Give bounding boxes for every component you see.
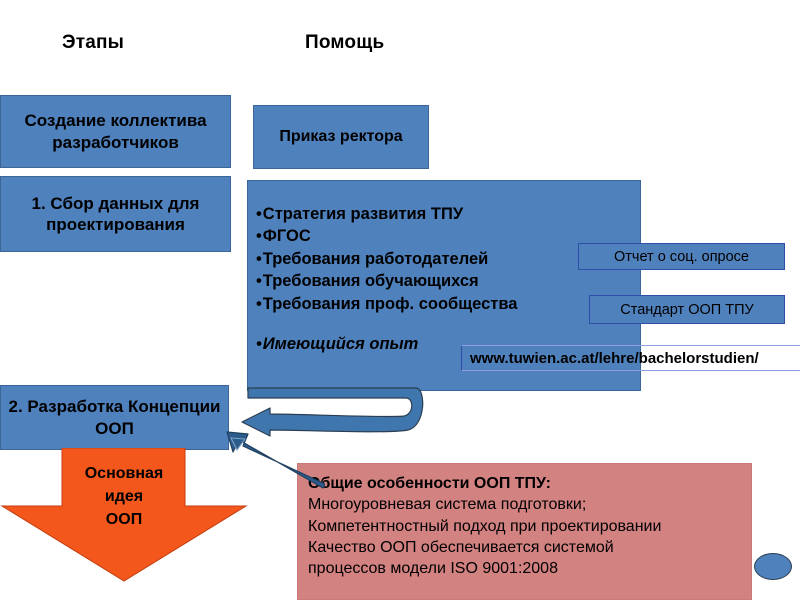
bullet-item: Требования обучающихся	[256, 270, 632, 292]
bullet-item: Требования проф. сообщества	[256, 293, 632, 315]
connector-arrow-icon	[215, 430, 325, 490]
box-develop-concept[interactable]: 2. Разработка Концепции ООП	[0, 385, 229, 450]
panel-line-1: Многоуровневая система подготовки;	[308, 494, 741, 515]
orange-down-arrow-icon	[0, 448, 248, 583]
panel-title: Общие особенности ООП ТПУ:	[308, 473, 741, 494]
panel-line-4: процессов модели ISO 9001:2008	[308, 558, 741, 579]
tag-reference-url[interactable]: www.tuwien.ac.at/lehre/bachelorstudien/	[461, 345, 800, 371]
column-header-stages: Этапы	[62, 32, 124, 54]
bullet-spacer	[256, 315, 632, 333]
panel-line-2: Компетентностный подход при проектирован…	[308, 516, 741, 537]
bullet-item: ФГОС	[256, 225, 632, 247]
box-collect-data[interactable]: 1. Сбор данных для проектирования	[0, 176, 231, 252]
column-header-help: Помощь	[305, 32, 384, 54]
tag-social-survey-report[interactable]: Отчет о соц. опросе	[578, 243, 785, 270]
panel-general-features[interactable]: Общие особенности ООП ТПУ: Многоуровнева…	[297, 463, 752, 600]
slide-canvas: Этапы Помощь Создание коллектива разрабо…	[0, 0, 800, 600]
box-rector-order[interactable]: Приказ ректора	[253, 105, 429, 169]
panel-line-3: Качество ООП обеспечивается системой	[308, 537, 741, 558]
tag-standard-oop-tpu[interactable]: Стандарт ООП ТПУ	[589, 295, 785, 324]
bullet-item: Требования работодателей	[256, 248, 632, 270]
decorative-ellipse	[754, 553, 792, 580]
bullet-item: Стратегия развития ТПУ	[256, 203, 632, 225]
box-create-team[interactable]: Создание коллектива разработчиков	[0, 95, 231, 168]
